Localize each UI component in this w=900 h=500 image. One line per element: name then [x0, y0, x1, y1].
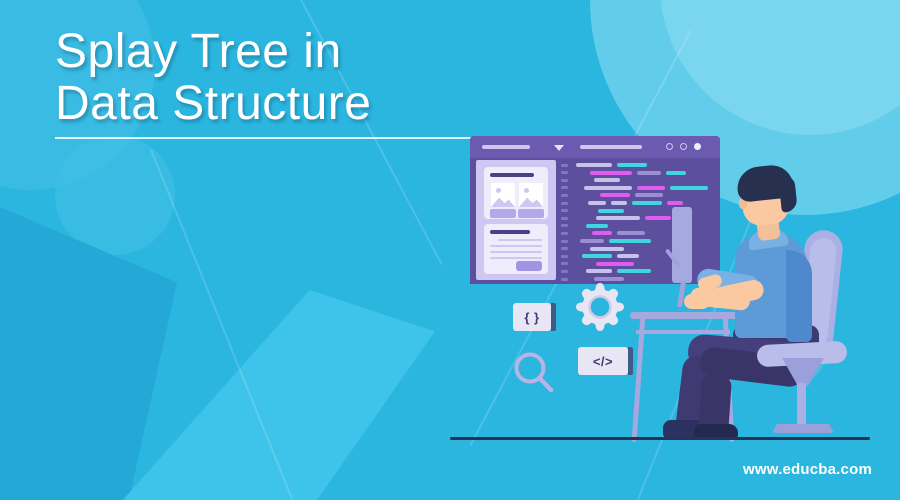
- developer-at-desk-illustration: { } </>: [0, 0, 900, 500]
- banner-image: Splay Tree in Data Structure: [0, 0, 900, 500]
- thumbnail-card: [484, 167, 548, 219]
- code-token: [666, 171, 686, 175]
- text-line: [490, 245, 542, 247]
- code-token: [632, 201, 662, 205]
- thumb-caption-1: [490, 209, 516, 218]
- monitor-screen: [672, 207, 692, 283]
- image-placeholder-icon-1: [490, 182, 516, 208]
- code-token: [617, 254, 639, 258]
- code-gutter-mark: [561, 217, 568, 220]
- code-gutter-mark: [561, 186, 568, 189]
- code-token: [645, 216, 671, 220]
- code-token: [592, 231, 612, 235]
- code-token: [617, 163, 647, 167]
- desk-crossbar: [636, 330, 730, 334]
- code-token: [598, 209, 624, 213]
- code-gutter-mark: [561, 278, 568, 281]
- code-token: [588, 201, 606, 205]
- code-token: [590, 171, 632, 175]
- design-panel: [476, 160, 556, 280]
- code-token: [609, 239, 651, 243]
- desk-leg-left: [632, 316, 646, 442]
- text-line: [490, 251, 542, 253]
- person-torso-shadow: [786, 250, 812, 342]
- code-gutter-mark: [561, 255, 568, 258]
- close-dot-icon: [694, 143, 701, 150]
- site-url: www.educba.com: [743, 461, 872, 478]
- text-card: [484, 224, 548, 274]
- code-token: [617, 269, 651, 273]
- code-token: [667, 201, 683, 205]
- code-gutter-mark: [561, 179, 568, 182]
- code-token: [637, 171, 661, 175]
- chevron-down-icon: [554, 145, 564, 151]
- code-token: [584, 186, 632, 190]
- floor-line: [450, 437, 870, 440]
- chair-pole: [797, 383, 806, 427]
- text-line: [490, 257, 542, 259]
- titlebar-pill-left: [482, 145, 530, 149]
- code-token: [617, 231, 645, 235]
- code-token: [586, 224, 608, 228]
- thumb-caption-2: [518, 209, 544, 218]
- code-gutter-mark: [561, 209, 568, 212]
- titlebar-pill-right: [580, 145, 642, 149]
- gear-icon: [572, 280, 628, 336]
- image-placeholder-icon-2: [518, 182, 544, 208]
- window-titlebar: [470, 136, 720, 158]
- text-card-heading: [490, 230, 530, 234]
- curly-braces-badge: { }: [513, 303, 551, 331]
- code-gutter-mark: [561, 224, 568, 227]
- chair-base: [772, 424, 834, 433]
- code-gutter-mark: [561, 164, 568, 167]
- maximize-dot-icon: [680, 143, 687, 150]
- code-token: [600, 193, 630, 197]
- code-token: [637, 186, 665, 190]
- code-gutter-mark: [561, 270, 568, 273]
- code-gutter-mark: [561, 262, 568, 265]
- code-gutter-mark: [561, 171, 568, 174]
- code-token: [611, 201, 627, 205]
- code-token: [670, 186, 708, 190]
- code-gutter-mark: [561, 232, 568, 235]
- panel-action-button[interactable]: [516, 261, 542, 271]
- code-token: [580, 239, 604, 243]
- person-hair-side: [778, 175, 798, 212]
- code-token: [596, 262, 634, 266]
- code-token: [635, 193, 663, 197]
- card-heading-bar: [490, 173, 534, 177]
- code-token: [596, 216, 640, 220]
- code-gutter-mark: [561, 202, 568, 205]
- code-tag-badge: </>: [578, 347, 628, 375]
- code-gutter-mark: [561, 240, 568, 243]
- code-gutter-mark: [561, 247, 568, 250]
- code-token: [582, 254, 612, 258]
- code-token: [576, 163, 612, 167]
- text-line: [498, 239, 542, 241]
- minimize-dot-icon: [666, 143, 673, 150]
- code-token: [594, 178, 620, 182]
- code-gutter-mark: [561, 194, 568, 197]
- code-token: [590, 247, 624, 251]
- code-token: [586, 269, 612, 273]
- search-magnifier-icon: [512, 350, 556, 396]
- person-hand-typing: [684, 294, 710, 309]
